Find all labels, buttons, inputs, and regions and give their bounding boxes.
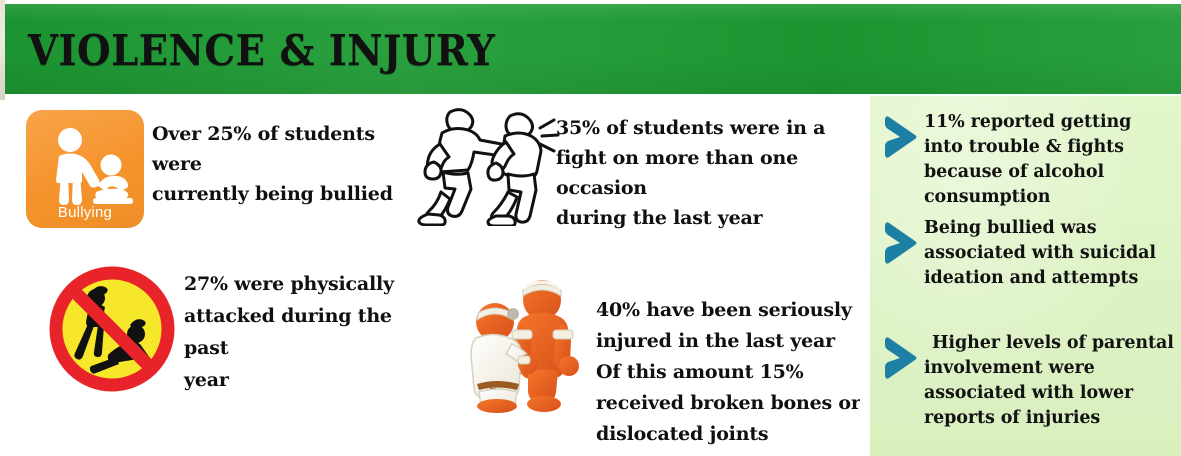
findings-panel: 11% reported getting into trouble & figh… [870,96,1181,456]
fight-stat-text: 35% of students were in a fight on more … [556,113,868,233]
no-violence-sign [48,265,176,393]
bullying-stat-text: Over 25% of students were currently bein… [152,119,422,209]
list-item-text: 11% reported getting into trouble & figh… [924,110,1174,210]
panel-left-gutter [860,96,870,456]
chevron-right-bullet-icon [884,335,918,381]
infographic-page: VIOLENCE & INJURY Bullying Over 25% of s… [0,0,1181,456]
banner-left-paper-edge [0,0,5,100]
bullying-icon-tile: Bullying [26,110,144,228]
banner-top-white-strip [0,0,1181,4]
list-item-text: Being bullied was associated with suicid… [924,216,1174,291]
chevron-right-bullet-icon [884,220,918,266]
no-violence-sign-icon [48,265,176,393]
physically-attacked-stat-text: 27% were physically attacked during the … [184,268,434,396]
bullying-icon-label: Bullying [26,204,144,221]
serious-injury-stat-text: 40% have been seriously injured in the l… [596,295,864,450]
chevron-right-bullet-icon [884,114,918,160]
medic-bandaging-injured-person-illustration [452,272,602,414]
fight-illustration [412,100,560,226]
list-item-text: Higher levels of parental involvement we… [924,331,1174,431]
header-banner: VIOLENCE & INJURY [0,4,1181,94]
injury-illustration [452,272,602,414]
page-title: VIOLENCE & INJURY [28,26,495,75]
two-people-fighting-illustration [412,100,560,226]
